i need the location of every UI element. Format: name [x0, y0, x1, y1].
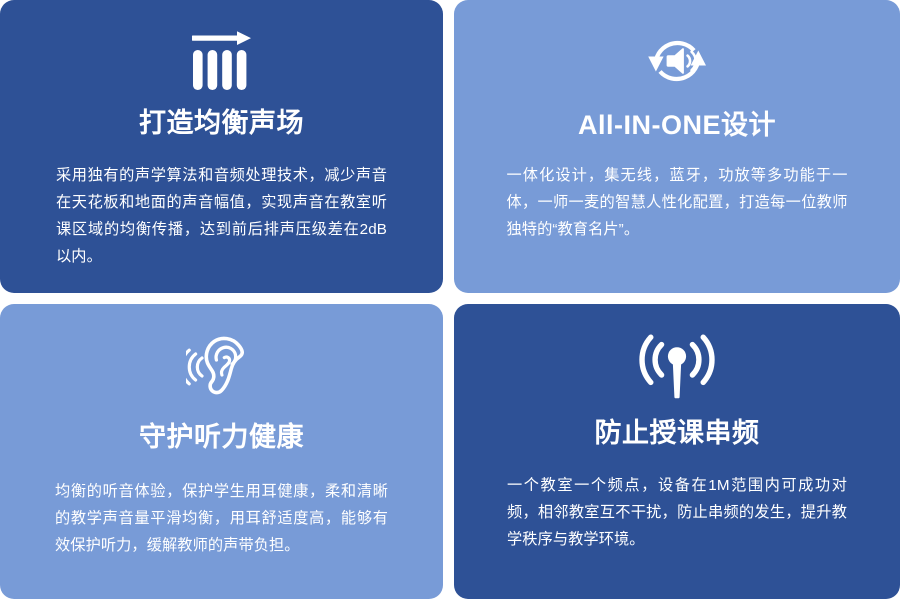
card-body: 一体化设计，集无线，蓝牙，功放等多功能于一体，一师一麦的智慧人性化配置，打造每一…: [507, 162, 848, 243]
feature-card-prevent-frequency-crosstalk[interactable]: 防止授课串频 一个教室一个频点，设备在1M范围内可成功对频，相邻教室互不干扰，防…: [454, 304, 900, 599]
card-title: 打造均衡声场: [139, 106, 304, 140]
card-title: All-IN-ONE设计: [578, 108, 776, 142]
bar-chart-arrow-icon: [0, 0, 443, 92]
feature-card-balanced-sound-field[interactable]: 打造均衡声场 采用独有的声学算法和音频处理技术，减少声音在天花板和地面的声音幅值…: [0, 0, 443, 293]
card-body: 均衡的听音体验，保护学生用耳健康，柔和清晰的教学声音量平滑均衡，用耳舒适度高，能…: [55, 478, 388, 559]
feature-card-grid: 打造均衡声场 采用独有的声学算法和音频处理技术，减少声音在天花板和地面的声音幅值…: [0, 0, 900, 600]
feature-card-hearing-health[interactable]: 守护听力健康 均衡的听音体验，保护学生用耳健康，柔和清晰的教学声音量平滑均衡，用…: [0, 304, 443, 599]
card-title: 守护听力健康: [139, 420, 304, 454]
ear-sound-icon: [0, 304, 443, 400]
card-title: 防止授课串频: [595, 416, 760, 450]
speaker-rotate-icon: [454, 0, 900, 92]
card-body: 采用独有的声学算法和音频处理技术，减少声音在天花板和地面的声音幅值，实现声音在教…: [56, 162, 387, 270]
feature-card-all-in-one-design[interactable]: All-IN-ONE设计 一体化设计，集无线，蓝牙，功放等多功能于一体，一师一麦…: [454, 0, 900, 293]
card-body: 一个教室一个频点，设备在1M范围内可成功对频，相邻教室互不干扰，防止串频的发生，…: [507, 472, 847, 553]
broadcast-antenna-icon: [454, 304, 900, 400]
